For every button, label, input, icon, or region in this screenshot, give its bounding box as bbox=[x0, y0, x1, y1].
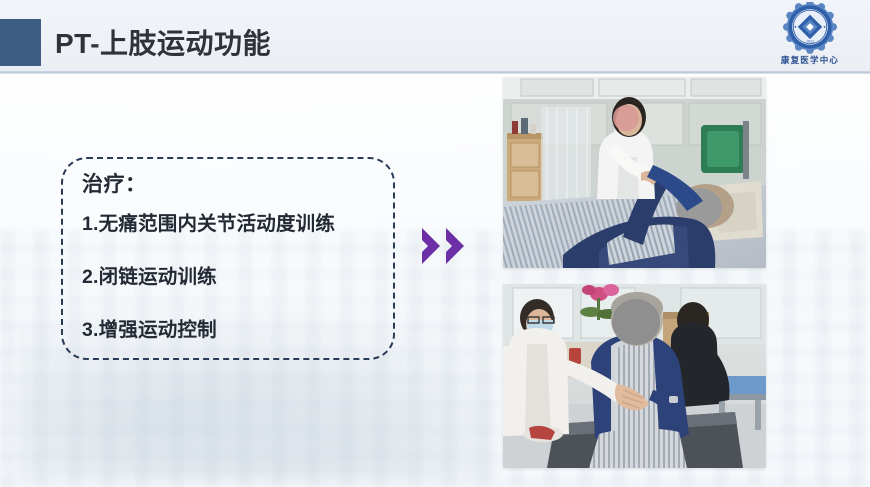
list-item: 1.无痛范围内关节活动度训练 bbox=[82, 207, 382, 236]
double-chevron-right-icon bbox=[420, 222, 478, 270]
page-title: PT-上肢运动功能 bbox=[55, 22, 271, 62]
photo-seated-upper-limb-control-training bbox=[503, 284, 766, 468]
logo: 1954 康复医学中心 bbox=[764, 2, 856, 70]
list-item: 3.增强运动控制 bbox=[82, 313, 382, 342]
list-item: 2.闭链运动训练 bbox=[82, 260, 382, 289]
header-divider bbox=[0, 71, 870, 74]
treatment-list: 1.无痛范围内关节活动度训练 2.闭链运动训练 3.增强运动控制 bbox=[82, 207, 382, 342]
title-accent-block bbox=[0, 19, 41, 66]
rehabilitation-medicine-center-emblem-icon: 1954 bbox=[783, 2, 837, 54]
photo-bed-shoulder-range-of-motion bbox=[503, 77, 766, 268]
svg-text:1954: 1954 bbox=[806, 40, 814, 44]
treatment-heading: 治疗： bbox=[82, 168, 147, 198]
logo-caption: 康复医学中心 bbox=[781, 54, 839, 66]
